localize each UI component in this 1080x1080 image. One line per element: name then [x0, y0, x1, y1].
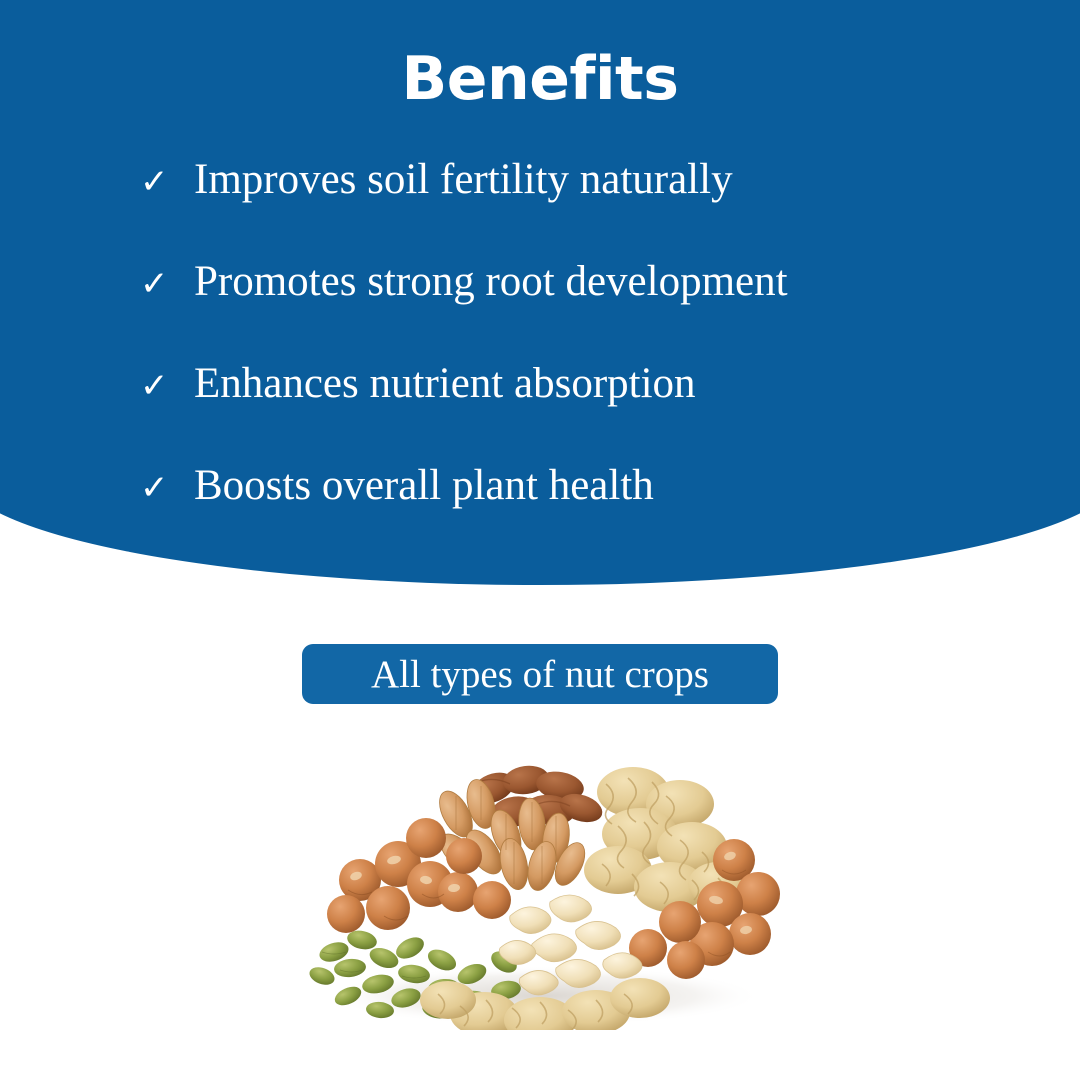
benefit-item-label: Promotes strong root development — [194, 260, 1040, 303]
benefit-item-label: Boosts overall plant health — [194, 464, 1040, 507]
page-title: Benefits — [0, 48, 1080, 111]
hero-content: Benefits ✓ Improves soil fertility natur… — [0, 0, 1080, 600]
benefit-list: ✓ Improves soil fertility naturally ✓ Pr… — [140, 158, 1040, 566]
nut-pile-image — [288, 752, 794, 1030]
benefit-item-label: Improves soil fertility naturally — [194, 158, 1040, 201]
check-icon: ✓ — [140, 369, 194, 403]
benefit-item: ✓ Promotes strong root development — [140, 260, 1040, 362]
benefits-infographic: Benefits ✓ Improves soil fertility natur… — [0, 0, 1080, 1080]
benefit-item-label: Enhances nutrient absorption — [194, 362, 1040, 405]
check-icon: ✓ — [140, 471, 194, 505]
check-icon: ✓ — [140, 165, 194, 199]
crop-type-badge: All types of nut crops — [302, 644, 778, 704]
check-icon: ✓ — [140, 267, 194, 301]
benefit-item: ✓ Improves soil fertility naturally — [140, 158, 1040, 260]
benefit-item: ✓ Boosts overall plant health — [140, 464, 1040, 566]
benefit-item: ✓ Enhances nutrient absorption — [140, 362, 1040, 464]
